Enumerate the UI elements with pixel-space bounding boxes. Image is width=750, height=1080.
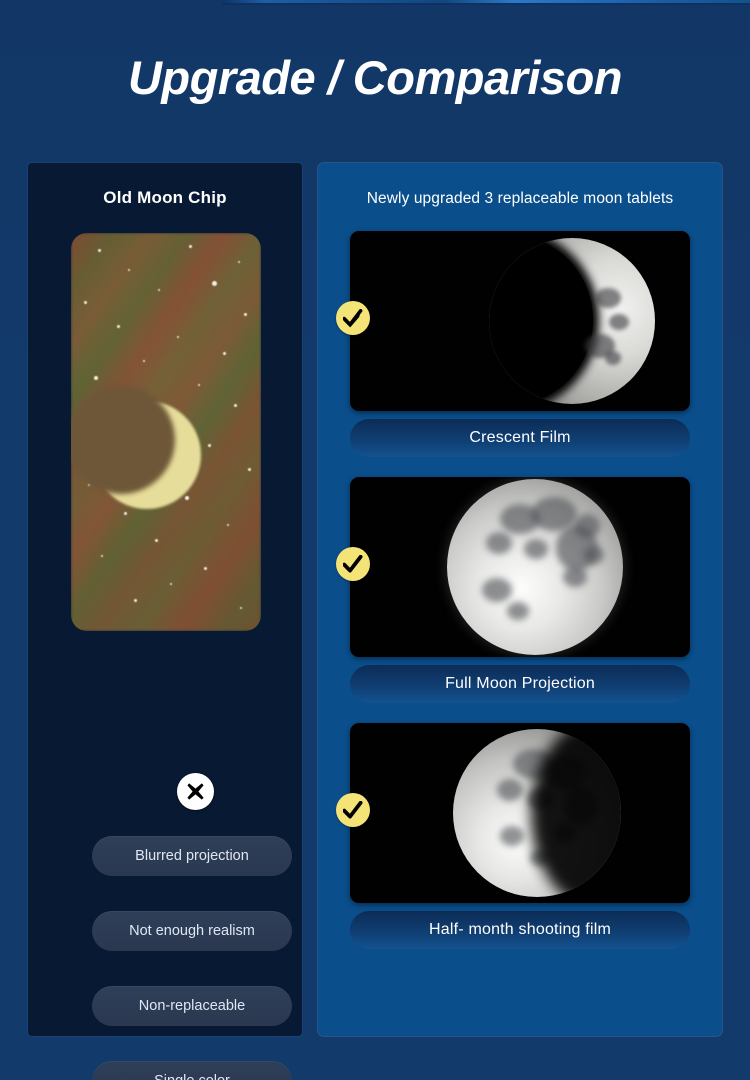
moon-label-gibbous: Half- month shooting film (350, 911, 690, 949)
page-title: Upgrade / Comparison (0, 48, 750, 108)
con-pill-0[interactable]: Blurred projection (92, 836, 292, 876)
cross-icon (177, 773, 214, 810)
top-edge-strip (222, 0, 750, 4)
new-tablets-panel-title: Newly upgraded 3 replaceable moon tablet… (318, 190, 722, 208)
con-pill-2[interactable]: Non-replaceable (92, 986, 292, 1026)
moon-item-full[interactable]: Full Moon Projection (350, 477, 690, 703)
check-icon (336, 793, 370, 827)
moon-label-full: Full Moon Projection (350, 665, 690, 703)
con-pill-label: Non-replaceable (139, 998, 245, 1014)
new-tablets-panel: Newly upgraded 3 replaceable moon tablet… (318, 163, 722, 1036)
old-chip-photo (71, 233, 261, 631)
moon-item-gibbous[interactable]: Half- month shooting film (350, 723, 690, 949)
moon-image-gibbous (350, 723, 690, 903)
old-crescent-moon (93, 401, 201, 509)
old-chip-panel: Old Moon Chip (28, 163, 302, 1036)
crescent-moon-graphic (489, 238, 655, 404)
con-pill-3[interactable]: Single color (92, 1061, 292, 1080)
old-chip-panel-title: Old Moon Chip (28, 188, 302, 208)
check-icon (336, 547, 370, 581)
moon-image-crescent (350, 231, 690, 411)
con-pill-label: Not enough realism (129, 923, 255, 939)
con-pill-1[interactable]: Not enough realism (92, 911, 292, 951)
full-moon-graphic (447, 479, 623, 655)
comparison-page: Upgrade / Comparison Old Moon Chip (0, 0, 750, 1080)
check-icon (336, 301, 370, 335)
con-pill-label: Single color (154, 1073, 230, 1080)
moon-item-crescent[interactable]: Crescent Film (350, 231, 690, 457)
con-pill-label: Blurred projection (135, 848, 249, 864)
moon-label-crescent: Crescent Film (350, 419, 690, 457)
gibbous-moon-graphic (453, 729, 621, 897)
moon-image-full (350, 477, 690, 657)
